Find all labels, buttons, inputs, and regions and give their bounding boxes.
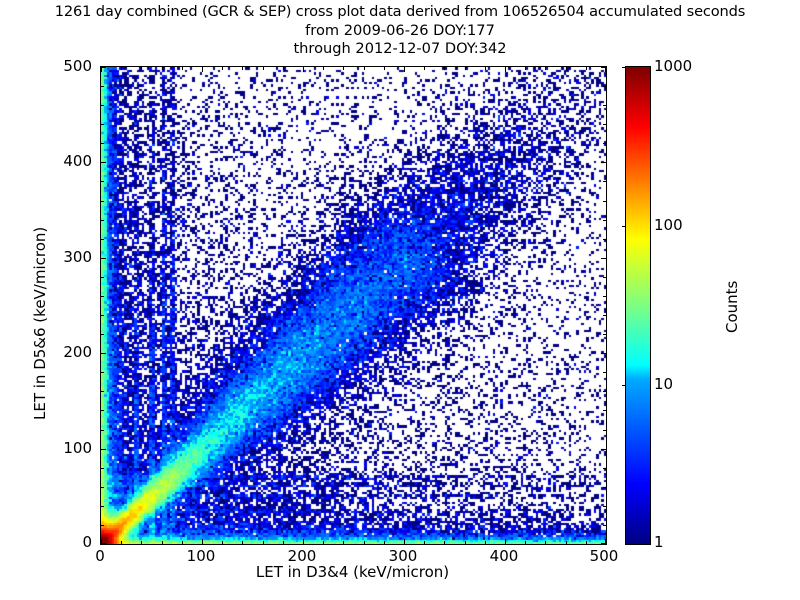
heatmap-canvas <box>101 67 606 544</box>
x-minor-tick-mark <box>182 67 183 70</box>
x-minor-tick-mark <box>384 541 385 544</box>
x-minor-tick-mark <box>242 67 243 70</box>
y-minor-tick-mark <box>101 410 104 411</box>
y-minor-tick-mark <box>603 220 606 221</box>
y-tick-mark <box>101 67 106 68</box>
y-minor-tick-mark <box>603 181 606 182</box>
colorbar-label: Counts <box>723 281 741 333</box>
x-minor-tick-mark <box>343 67 344 70</box>
y-minor-tick-mark <box>101 506 104 507</box>
y-minor-tick-mark <box>603 201 606 202</box>
y-minor-tick-mark <box>603 372 606 373</box>
x-minor-tick-mark <box>222 67 223 70</box>
x-tick-mark <box>202 539 203 544</box>
y-tick-mark <box>601 258 606 259</box>
x-minor-tick-mark <box>566 541 567 544</box>
x-minor-tick-mark <box>424 541 425 544</box>
y-minor-tick-mark <box>101 181 104 182</box>
x-minor-tick-mark <box>323 67 324 70</box>
x-minor-tick-mark <box>384 67 385 70</box>
y-tick-mark <box>601 449 606 450</box>
y-tick-mark <box>601 543 606 544</box>
y-minor-tick-mark <box>603 525 606 526</box>
title-line-1: 1261 day combined (GCR & SEP) cross plot… <box>0 3 800 22</box>
x-minor-tick-mark <box>485 67 486 70</box>
colorbar-gradient <box>626 67 650 544</box>
y-minor-tick-mark <box>101 86 104 87</box>
y-minor-tick-mark <box>101 391 104 392</box>
figure-canvas: 1261 day combined (GCR & SEP) cross plot… <box>0 0 800 600</box>
y-minor-tick-mark <box>603 105 606 106</box>
y-tick-label: 500 <box>46 57 92 75</box>
x-minor-tick-mark <box>141 67 142 70</box>
x-minor-tick-mark <box>222 541 223 544</box>
x-minor-tick-mark <box>545 541 546 544</box>
x-minor-tick-mark <box>566 67 567 70</box>
plot-axes <box>100 66 607 545</box>
y-minor-tick-mark <box>603 430 606 431</box>
x-minor-tick-mark <box>545 67 546 70</box>
x-tick-label: 400 <box>490 547 519 565</box>
colorbar-tick-mark <box>622 226 626 227</box>
x-minor-tick-mark <box>525 67 526 70</box>
x-minor-tick-mark <box>263 541 264 544</box>
x-minor-tick-mark <box>242 541 243 544</box>
y-minor-tick-mark <box>101 124 104 125</box>
y-minor-tick-mark <box>101 315 104 316</box>
y-tick-mark <box>101 162 106 163</box>
y-minor-tick-mark <box>603 277 606 278</box>
x-minor-tick-mark <box>343 541 344 544</box>
y-tick-mark <box>101 449 106 450</box>
y-minor-tick-mark <box>603 506 606 507</box>
y-minor-tick-mark <box>101 201 104 202</box>
y-minor-tick-mark <box>603 315 606 316</box>
y-tick-mark <box>601 67 606 68</box>
title-line-3: through 2012-12-07 DOY:342 <box>0 40 800 59</box>
colorbar-tick-mark <box>622 385 626 386</box>
title-line-2: from 2009-06-26 DOY:177 <box>0 22 800 41</box>
x-tick-mark <box>404 67 405 72</box>
y-minor-tick-mark <box>101 220 104 221</box>
x-tick-label: 300 <box>389 547 418 565</box>
x-tick-label: 200 <box>288 547 317 565</box>
y-minor-tick-mark <box>603 487 606 488</box>
y-tick-mark <box>101 353 106 354</box>
x-minor-tick-mark <box>283 541 284 544</box>
y-minor-tick-mark <box>603 239 606 240</box>
y-tick-label: 400 <box>46 152 92 170</box>
y-minor-tick-mark <box>603 86 606 87</box>
y-minor-tick-mark <box>603 410 606 411</box>
colorbar-tick-label: 100 <box>654 216 683 234</box>
x-tick-mark <box>505 539 506 544</box>
x-minor-tick-mark <box>141 541 142 544</box>
y-tick-label: 300 <box>46 248 92 266</box>
x-minor-tick-mark <box>121 541 122 544</box>
x-minor-tick-mark <box>586 67 587 70</box>
x-axis-label: LET in D3&4 (keV/micron) <box>100 563 605 581</box>
x-minor-tick-mark <box>586 541 587 544</box>
y-tick-label: 200 <box>46 343 92 361</box>
x-tick-mark <box>202 67 203 72</box>
x-minor-tick-mark <box>182 541 183 544</box>
x-tick-label: 0 <box>95 547 105 565</box>
x-minor-tick-mark <box>465 67 466 70</box>
y-tick-label: 0 <box>46 533 92 551</box>
y-minor-tick-mark <box>101 487 104 488</box>
y-minor-tick-mark <box>603 143 606 144</box>
x-minor-tick-mark <box>263 67 264 70</box>
y-tick-mark <box>101 543 106 544</box>
colorbar-tick-label: 1000 <box>654 57 692 75</box>
x-minor-tick-mark <box>162 541 163 544</box>
y-minor-tick-mark <box>101 525 104 526</box>
x-minor-tick-mark <box>323 541 324 544</box>
figure-title: 1261 day combined (GCR & SEP) cross plot… <box>0 3 800 59</box>
x-minor-tick-mark <box>162 67 163 70</box>
y-tick-mark <box>601 353 606 354</box>
x-minor-tick-mark <box>444 67 445 70</box>
x-minor-tick-mark <box>465 541 466 544</box>
x-minor-tick-mark <box>485 541 486 544</box>
x-minor-tick-mark <box>424 67 425 70</box>
colorbar-tick-label: 1 <box>654 533 664 551</box>
y-minor-tick-mark <box>101 296 104 297</box>
y-tick-mark <box>601 162 606 163</box>
x-minor-tick-mark <box>364 67 365 70</box>
y-minor-tick-mark <box>603 334 606 335</box>
x-minor-tick-mark <box>283 67 284 70</box>
y-minor-tick-mark <box>101 430 104 431</box>
x-minor-tick-mark <box>525 541 526 544</box>
y-minor-tick-mark <box>101 143 104 144</box>
y-minor-tick-mark <box>603 296 606 297</box>
x-minor-tick-mark <box>444 541 445 544</box>
x-tick-label: 100 <box>187 547 216 565</box>
x-tick-mark <box>404 539 405 544</box>
y-minor-tick-mark <box>101 372 104 373</box>
y-minor-tick-mark <box>101 277 104 278</box>
y-tick-mark <box>101 258 106 259</box>
y-tick-label: 100 <box>46 439 92 457</box>
y-minor-tick-mark <box>101 334 104 335</box>
x-tick-mark <box>303 539 304 544</box>
y-minor-tick-mark <box>603 124 606 125</box>
x-tick-label: 500 <box>590 547 619 565</box>
colorbar <box>625 66 651 545</box>
x-tick-mark <box>505 67 506 72</box>
y-minor-tick-mark <box>603 468 606 469</box>
x-minor-tick-mark <box>364 541 365 544</box>
y-minor-tick-mark <box>101 468 104 469</box>
colorbar-tick-mark <box>622 67 626 68</box>
y-minor-tick-mark <box>603 391 606 392</box>
x-minor-tick-mark <box>121 67 122 70</box>
colorbar-tick-label: 10 <box>654 375 673 393</box>
y-minor-tick-mark <box>101 239 104 240</box>
y-minor-tick-mark <box>101 105 104 106</box>
x-tick-mark <box>303 67 304 72</box>
